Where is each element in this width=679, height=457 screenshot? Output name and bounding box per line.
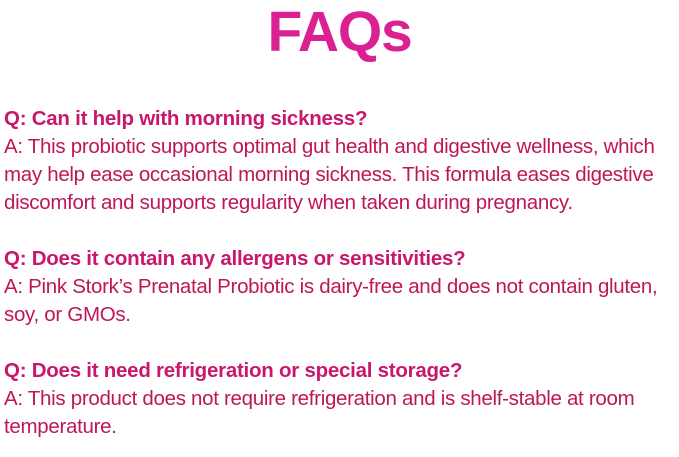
faq-page: FAQs Q: Can it help with morning sicknes… — [0, 0, 679, 457]
faq-question: Q: Can it help with morning sickness? — [4, 105, 676, 133]
faq-answer: A: This product does not require refrige… — [4, 385, 676, 441]
faq-question: Q: Does it need refrigeration or special… — [4, 357, 676, 385]
faq-question: Q: Does it contain any allergens or sens… — [4, 245, 676, 273]
faq-item: Q: Does it need refrigeration or special… — [4, 357, 676, 441]
faq-answer: A: Pink Stork’s Prenatal Probiotic is da… — [4, 273, 676, 329]
faq-list: Q: Can it help with morning sickness? A:… — [4, 105, 676, 441]
faq-item: Q: Does it contain any allergens or sens… — [4, 245, 676, 329]
faq-item: Q: Can it help with morning sickness? A:… — [4, 105, 676, 217]
faq-answer: A: This probiotic supports optimal gut h… — [4, 133, 676, 217]
page-title: FAQs — [0, 2, 679, 62]
